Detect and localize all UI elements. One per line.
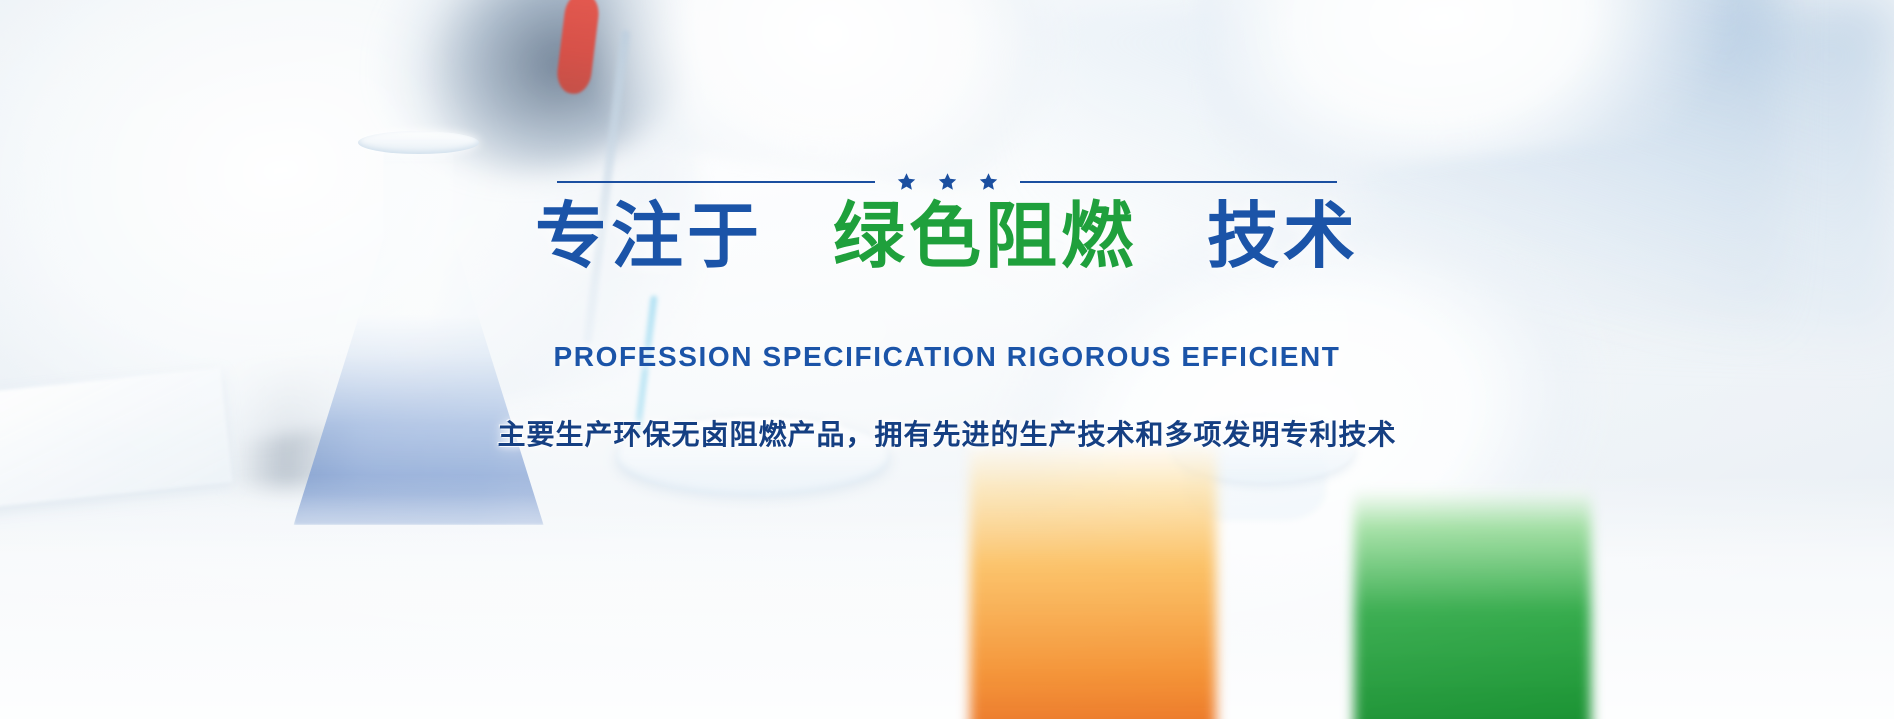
decorative-rule-row [557,172,1337,191]
divider-line-right [1020,181,1338,183]
star-icon [938,172,957,191]
star-icon [979,172,998,191]
headline-part-1: 专注于 [535,197,763,277]
headline-part-3: 技术 [1207,197,1359,277]
star-icon [897,172,916,191]
chinese-tagline: 主要生产环保无卤阻燃产品，拥有先进的生产技术和多项发明专利技术 [497,413,1396,453]
divider-line-left [557,181,875,183]
headline: 专注于 绿色阻燃 技术 [535,199,1359,277]
star-group [875,172,1020,191]
english-subtitle: PROFESSION SPECIFICATION RIGOROUS EFFICI… [554,341,1341,373]
hero-banner: 专注于 绿色阻燃 技术 PROFESSION SPECIFICATION RIG… [0,0,1894,719]
headline-part-2: 绿色阻燃 [833,197,1137,277]
banner-content: 专注于 绿色阻燃 技术 PROFESSION SPECIFICATION RIG… [0,0,1894,719]
